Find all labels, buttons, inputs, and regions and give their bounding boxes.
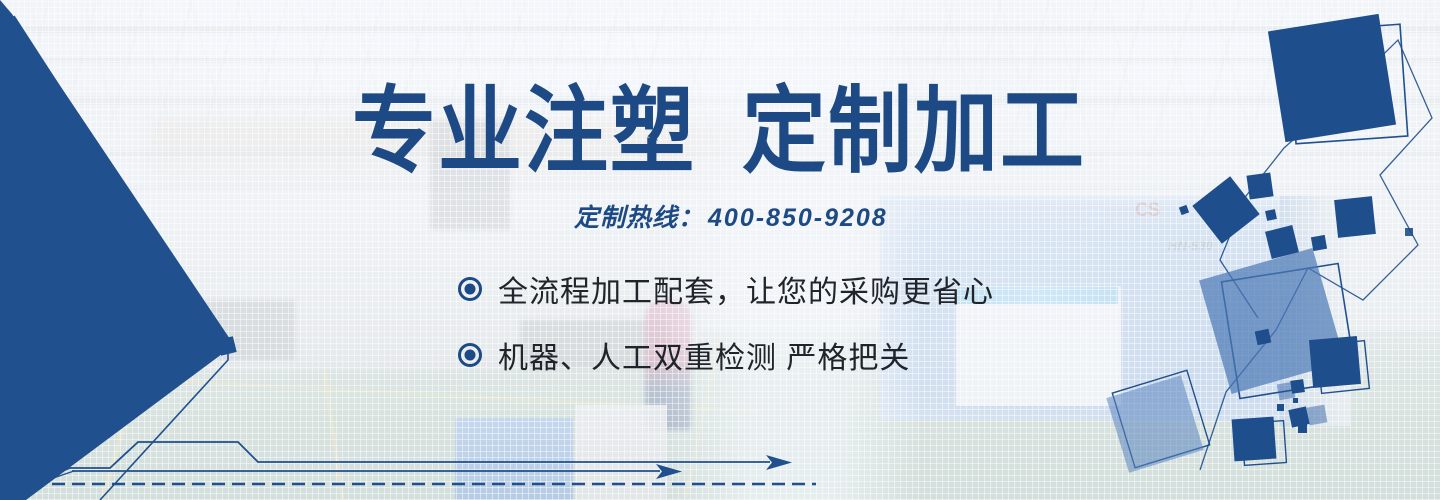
hotline-label: 定制热线： xyxy=(574,204,704,232)
hotline-number: 400-850-9208 xyxy=(708,204,888,232)
headline-part-1: 专业注塑 xyxy=(352,78,696,183)
feature-text: 机器、人工双重检测 严格把关 xyxy=(498,333,910,377)
right-decor-squares xyxy=(1080,0,1440,500)
banner-headline: 专业注塑定制加工 xyxy=(352,84,1086,178)
hotline-text: 定制热线：400-850-9208 xyxy=(574,198,888,234)
promo-banner: CS HN-530 xyxy=(0,0,1440,500)
list-item: 机器、人工双重检测 严格把关 xyxy=(458,332,994,378)
radio-dot-icon xyxy=(458,343,482,367)
headline-part-2: 定制加工 xyxy=(742,78,1086,183)
feature-text: 全流程加工配套，让您的采购更省心 xyxy=(498,267,994,311)
bottom-decor-lines xyxy=(0,400,900,500)
radio-dot-icon xyxy=(458,277,482,301)
list-item: 全流程加工配套，让您的采购更省心 xyxy=(458,266,994,312)
feature-list: 全流程加工配套，让您的采购更省心 机器、人工双重检测 严格把关 xyxy=(458,266,994,398)
